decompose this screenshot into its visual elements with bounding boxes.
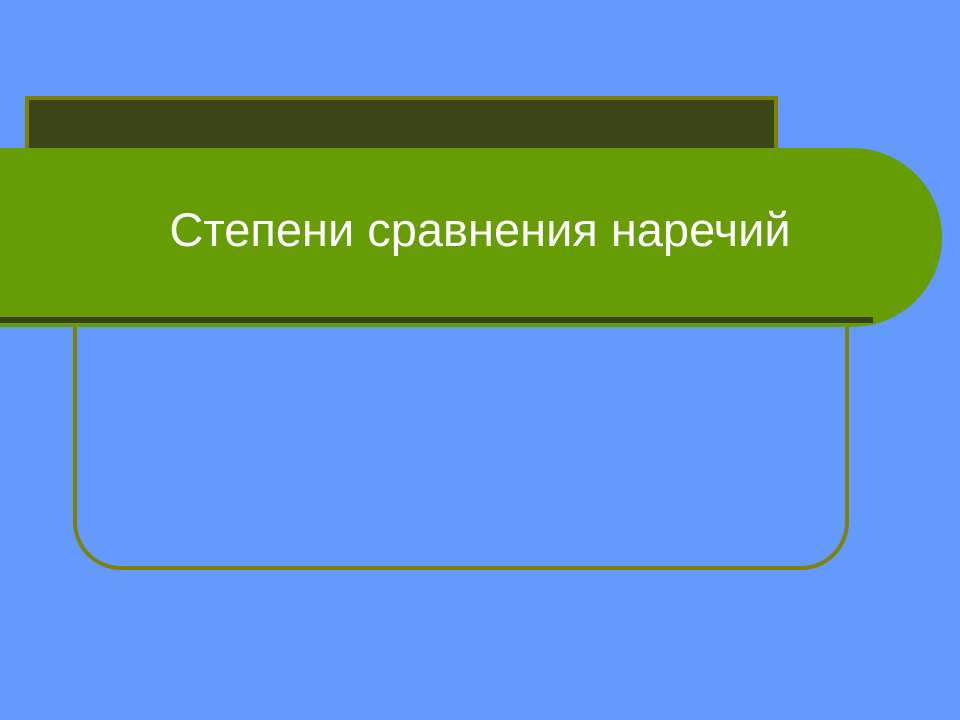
presentation-slide: Степени сравнения наречий — [0, 0, 960, 720]
slide-title[interactable]: Степени сравнения наречий — [0, 148, 960, 318]
slide-body-text[interactable] — [85, 312, 837, 558]
